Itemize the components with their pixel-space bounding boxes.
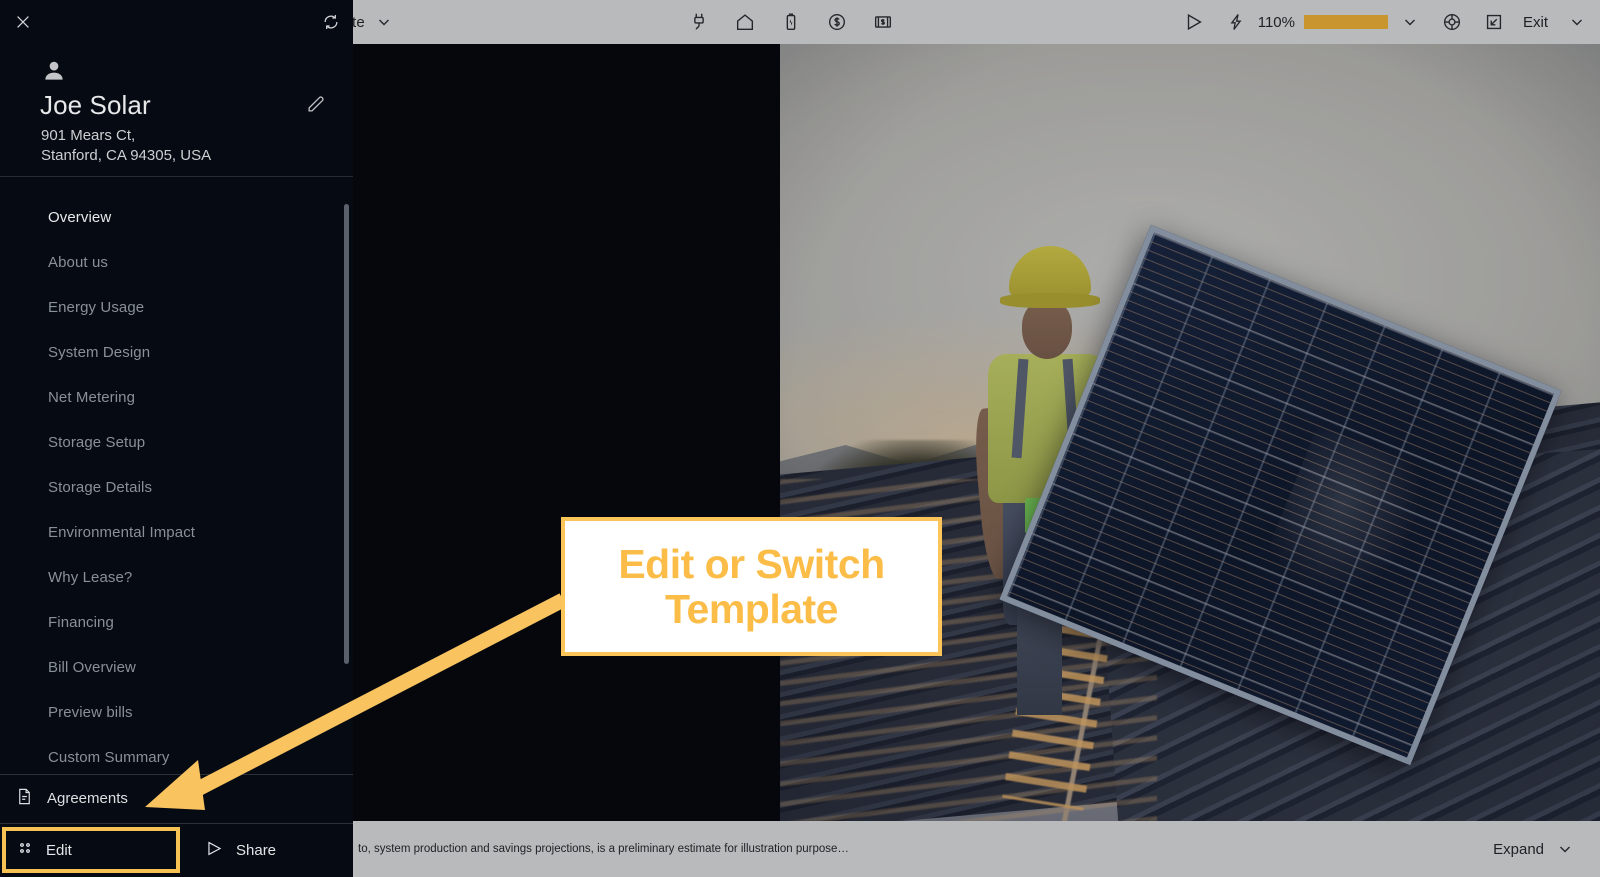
sidebar-nav: OverviewAbout usEnergy UsageSystem Desig… — [0, 177, 353, 774]
home-icon[interactable] — [732, 9, 758, 35]
sidebar-item-storage-details[interactable]: Storage Details — [0, 465, 353, 510]
sidebar-item-preview-bills[interactable]: Preview bills — [0, 690, 353, 735]
share-label: Share — [236, 842, 276, 859]
close-icon[interactable] — [10, 9, 36, 35]
edit-label: Edit — [46, 842, 72, 859]
sidebar-item-about-us[interactable]: About us — [0, 240, 353, 285]
lifebuoy-icon[interactable] — [1439, 9, 1465, 35]
sidebar-item-label: Bill Overview — [48, 659, 136, 676]
sidebar-item-environmental-impact[interactable]: Environmental Impact — [0, 510, 353, 555]
sidebar-item-custom-summary[interactable]: Custom Summary — [0, 735, 353, 774]
sidebar-item-label: Environmental Impact — [48, 524, 195, 541]
address-line-2: Stanford, CA 94305, USA — [41, 146, 211, 166]
sidebar-nav-list: OverviewAbout usEnergy UsageSystem Desig… — [0, 195, 353, 774]
zoom-slider-fill — [1304, 15, 1388, 29]
sidebar-item-label: Preview bills — [48, 704, 133, 721]
sidebar-item-label: Storage Details — [48, 479, 152, 496]
expand-button[interactable]: Expand — [1493, 836, 1578, 862]
sidebar-item-label: Energy Usage — [48, 299, 144, 316]
share-triangle-icon — [205, 839, 224, 862]
lightning-icon[interactable] — [1223, 9, 1249, 35]
sidebar-item-agreements[interactable]: Agreements — [0, 775, 353, 823]
app-root: re is bright, 05, USA te — [0, 0, 1600, 877]
hero-photo-solar-installer — [780, 44, 1600, 821]
zoom-control[interactable]: 110% — [1223, 9, 1423, 35]
callout-line-1: Edit or Switch — [618, 542, 884, 586]
play-triangle-icon[interactable] — [1181, 9, 1207, 35]
sidebar-item-label: Why Lease? — [48, 569, 132, 586]
chevron-down-icon[interactable] — [371, 9, 397, 35]
plug-icon[interactable] — [686, 9, 712, 35]
share-button[interactable]: Share — [183, 824, 276, 877]
sidebar-item-financing[interactable]: Financing — [0, 600, 353, 645]
dots-grid-icon — [16, 839, 34, 861]
refresh-icon[interactable] — [318, 9, 344, 35]
annotation-callout-text: Edit or Switch Template — [618, 542, 884, 631]
sidebar-action-bar: Edit Share — [0, 824, 353, 877]
sidebar-item-storage-setup[interactable]: Storage Setup — [0, 420, 353, 465]
sidebar-scrollbar[interactable] — [344, 204, 349, 664]
sidebar-item-bill-overview[interactable]: Bill Overview — [0, 645, 353, 690]
sidebar-item-system-design[interactable]: System Design — [0, 330, 353, 375]
sidebar-item-label: Storage Setup — [48, 434, 145, 451]
toolbar-template-group: te — [352, 0, 397, 44]
agreements-label: Agreements — [47, 790, 128, 807]
sidebar-item-label: Net Metering — [48, 389, 135, 406]
chevron-down-icon[interactable] — [1564, 9, 1590, 35]
customer-name: Joe Solar — [40, 90, 151, 121]
expand-label: Expand — [1493, 841, 1544, 858]
sidebar-item-label: System Design — [48, 344, 150, 361]
customer-address: 901 Mears Ct, Stanford, CA 94305, USA — [41, 126, 211, 166]
sidebar-item-label: Overview — [48, 209, 111, 226]
sidebar-item-label: Financing — [48, 614, 114, 631]
toolbar-right-group: 110% Exi — [1181, 0, 1590, 44]
edit-button[interactable]: Edit — [0, 824, 183, 877]
chevron-down-icon[interactable] — [1397, 9, 1423, 35]
address-line-1: 901 Mears Ct, — [41, 126, 211, 146]
person-avatar-icon — [41, 58, 67, 89]
sidebar-header: Joe Solar 901 Mears Ct, Stanford, CA 943… — [0, 0, 353, 176]
sidebar-item-label: Custom Summary — [48, 749, 169, 766]
sidebar-item-why-lease[interactable]: Why Lease? — [0, 555, 353, 600]
zoom-percent-label: 110% — [1258, 14, 1295, 31]
template-name-label: te — [352, 14, 365, 31]
sidebar-item-overview[interactable]: Overview — [0, 195, 353, 240]
pencil-icon[interactable] — [305, 93, 329, 117]
photo-vignette — [780, 44, 1600, 821]
bill-icon[interactable] — [870, 9, 896, 35]
annotation-callout: Edit or Switch Template — [561, 517, 942, 656]
chevron-down-icon — [1552, 836, 1578, 862]
exit-arrow-icon[interactable] — [1481, 9, 1507, 35]
document-icon — [15, 787, 34, 810]
callout-line-2: Template — [618, 587, 884, 631]
sidebar-item-label: About us — [48, 254, 108, 271]
zoom-slider[interactable] — [1304, 15, 1388, 29]
battery-icon[interactable] — [778, 9, 804, 35]
exit-label[interactable]: Exit — [1523, 14, 1548, 31]
disclaimer-text: to, system production and savings projec… — [358, 843, 849, 855]
left-sidebar: Joe Solar 901 Mears Ct, Stanford, CA 943… — [0, 0, 353, 877]
sidebar-item-energy-usage[interactable]: Energy Usage — [0, 285, 353, 330]
dollar-circle-icon[interactable] — [824, 9, 850, 35]
toolbar-section-icons — [686, 0, 896, 44]
sidebar-item-net-metering[interactable]: Net Metering — [0, 375, 353, 420]
